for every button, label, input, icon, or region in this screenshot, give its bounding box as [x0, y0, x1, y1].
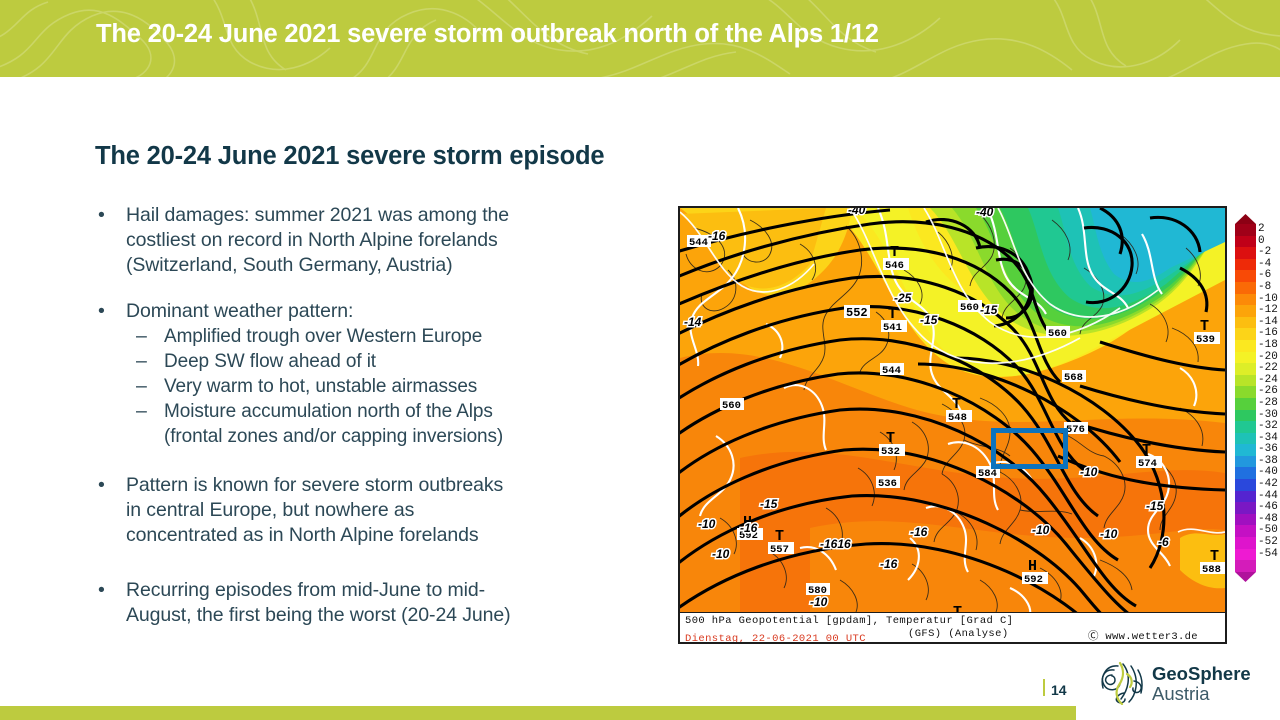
colorbar-cell [1235, 259, 1256, 271]
svg-text:-15: -15 [1146, 499, 1164, 513]
colorbar-cell [1235, 270, 1256, 282]
colorbar-cell [1235, 236, 1256, 248]
sub-bullet-item: – Moisture accumulation north of the Alp… [136, 399, 665, 449]
colorbar-cell [1235, 363, 1256, 375]
colorbar-tick-label: -12 [1258, 305, 1280, 317]
svg-text:539: 539 [1196, 334, 1215, 346]
colorbar-tick-label: -54 [1258, 549, 1280, 561]
bullet-marker: • [95, 299, 126, 324]
colorbar-cell [1235, 410, 1256, 422]
svg-text:560: 560 [722, 400, 741, 412]
bullet-line: Pattern is known for severe storm outbre… [126, 473, 503, 498]
svg-text:-40: -40 [848, 208, 866, 217]
sub-bullet-text: Moisture accumulation north of the Alps … [164, 399, 503, 449]
svg-text:588: 588 [1202, 564, 1221, 576]
colorbar-cell [1235, 328, 1256, 340]
bullet-text: Recurring episodes from mid-June to mid-… [126, 578, 511, 628]
colorbar-cell [1235, 525, 1256, 537]
colorbar-cell [1235, 479, 1256, 491]
colorbar-tick-label: -32 [1258, 421, 1280, 433]
colorbar-tick-label [1258, 560, 1280, 572]
logo-text-austria: Austria [1152, 683, 1210, 705]
map-caption-source: Ⓒ www.wetter3.de [1088, 628, 1198, 642]
bullet-text: Hail damages: summer 2021 was among the … [126, 203, 509, 278]
colorbar-bottom-arrow [1235, 572, 1256, 582]
alps-highlight-box [991, 428, 1068, 469]
bullet-item: • Recurring episodes from mid-June to mi… [95, 578, 665, 628]
svg-text:-1616: -1616 [820, 537, 851, 551]
bullet-line: costliest on record in North Alpine fore… [126, 228, 509, 253]
bullet-block: • Pattern is known for severe storm outb… [95, 473, 665, 548]
logo-text-geosphere: GeoSphere [1152, 663, 1251, 685]
svg-text:584: 584 [978, 468, 997, 480]
svg-text:544: 544 [689, 237, 708, 249]
colorbar-tick-label: -18 [1258, 340, 1280, 352]
bullet-block: • Dominant weather pattern: – Amplified … [95, 299, 665, 449]
colorbar-tick-label: -8 [1258, 282, 1280, 294]
sub-bullet-item: – Deep SW flow ahead of it [136, 349, 665, 374]
svg-text:-16: -16 [708, 229, 726, 243]
sub-bullet-marker: – [136, 399, 164, 424]
colorbar-cell [1235, 433, 1256, 445]
map-caption-date-text: Dienstag, 22-06-2021 00 UTC [685, 633, 866, 642]
svg-text:-6: -6 [1158, 535, 1169, 549]
svg-text:-25: -25 [894, 291, 912, 305]
svg-text:-14: -14 [684, 315, 702, 329]
sub-bullet-item: – Very warm to hot, unstable airmasses [136, 374, 665, 399]
map-caption-variables: 500 hPa Geopotential [gpdam], Temperatur… [685, 615, 1013, 627]
bullet-item: • Pattern is known for severe storm outb… [95, 473, 665, 548]
colorbar-cell [1235, 247, 1256, 259]
sub-bullet-text: Very warm to hot, unstable airmasses [164, 374, 477, 399]
svg-text:-10: -10 [1032, 523, 1050, 537]
svg-text:536: 536 [878, 478, 897, 490]
svg-text:-15: -15 [980, 303, 998, 317]
colorbar-cell [1235, 375, 1256, 387]
svg-text:-10: -10 [1080, 465, 1098, 479]
bullet-list: • Hail damages: summer 2021 was among th… [95, 203, 665, 649]
colorbar-cell [1235, 386, 1256, 398]
colorbar-cell [1235, 282, 1256, 294]
weather-map-canvas: 544 552 560 544 536 580 568 576 584 560 … [680, 208, 1225, 642]
sub-bullet-text: Amplified trough over Western Europe [164, 324, 482, 349]
svg-text:-10: -10 [1100, 527, 1118, 541]
page-number: 14 [1051, 682, 1067, 698]
weather-map-figure: 544 552 560 544 536 580 568 576 584 560 … [678, 206, 1227, 644]
colorbar-tick-label: -28 [1258, 398, 1280, 410]
svg-text:560: 560 [1048, 328, 1067, 340]
bullet-item: • Hail damages: summer 2021 was among th… [95, 203, 665, 278]
colorbar-cell [1235, 467, 1256, 479]
svg-text:-16: -16 [910, 525, 928, 539]
svg-text:568: 568 [1064, 372, 1083, 384]
svg-text:-10: -10 [810, 595, 828, 609]
svg-text:-16: -16 [740, 521, 758, 535]
colorbar-tick-label: -22 [1258, 363, 1280, 375]
colorbar-strip [1235, 224, 1256, 572]
bullet-line: concentrated as in North Alpine foreland… [126, 523, 503, 548]
temperature-colorbar: 20-2-4-6-8-10-12-14-16-18-20-22-24-26-28… [1235, 214, 1280, 614]
svg-text:-10: -10 [712, 547, 730, 561]
sub-bullet-line: (frontal zones and/or capping inversions… [164, 424, 503, 449]
bullet-marker: • [95, 473, 126, 498]
bullet-text: Dominant weather pattern: [126, 299, 353, 324]
geosphere-austria-logo: GeoSphere Austria [1100, 659, 1268, 707]
svg-text:548: 548 [948, 412, 967, 424]
sub-bullet-text: Deep SW flow ahead of it [164, 349, 376, 374]
bullet-line: Recurring episodes from mid-June to mid- [126, 578, 511, 603]
page-title: The 20-24 June 2021 severe storm episode [95, 142, 604, 171]
svg-text:541: 541 [883, 322, 902, 334]
bullet-line: Dominant weather pattern: [126, 299, 353, 324]
svg-text:574: 574 [1138, 458, 1157, 470]
svg-text:544: 544 [882, 365, 901, 377]
svg-text:-10: -10 [698, 517, 716, 531]
weather-map-panel[interactable]: 544 552 560 544 536 580 568 576 584 560 … [678, 206, 1227, 644]
colorbar-cell [1235, 317, 1256, 329]
colorbar-cell [1235, 294, 1256, 306]
colorbar-tick-label: -52 [1258, 537, 1280, 549]
svg-text:-40: -40 [976, 208, 994, 219]
colorbar-cell [1235, 514, 1256, 526]
colorbar-tick-label: 2 [1258, 224, 1280, 236]
sub-bullet-item: – Amplified trough over Western Europe [136, 324, 665, 349]
svg-text:557: 557 [770, 544, 789, 556]
colorbar-cell [1235, 224, 1256, 236]
sub-bullet-marker: – [136, 374, 164, 399]
bullet-block: • Hail damages: summer 2021 was among th… [95, 203, 665, 278]
svg-text:552: 552 [846, 306, 868, 320]
colorbar-cell [1235, 502, 1256, 514]
map-caption: 500 hPa Geopotential [gpdam], Temperatur… [680, 612, 1225, 642]
sub-bullet-list: – Amplified trough over Western Europe –… [136, 324, 665, 449]
colorbar-cell [1235, 549, 1256, 561]
svg-text:-16: -16 [880, 557, 898, 571]
colorbar-cell [1235, 340, 1256, 352]
colorbar-cell [1235, 560, 1256, 572]
page-number-divider [1043, 679, 1045, 696]
colorbar-cell [1235, 491, 1256, 503]
colorbar-cell [1235, 352, 1256, 364]
svg-text:546: 546 [885, 260, 904, 272]
svg-text:532: 532 [881, 446, 900, 458]
colorbar-cell [1235, 421, 1256, 433]
bullet-item: • Dominant weather pattern: [95, 299, 665, 324]
sub-bullet-line: Moisture accumulation north of the Alps [164, 399, 503, 424]
colorbar-tick-label: -42 [1258, 479, 1280, 491]
colorbar-cell [1235, 444, 1256, 456]
bullet-marker: • [95, 203, 126, 228]
colorbar-cell [1235, 537, 1256, 549]
header-title: The 20-24 June 2021 severe storm outbrea… [96, 20, 879, 49]
bullet-text: Pattern is known for severe storm outbre… [126, 473, 503, 548]
map-caption-datetime: Dienstag, 22-06-2021 00 UTC [685, 628, 866, 642]
svg-text:-15: -15 [760, 497, 778, 511]
bullet-marker: • [95, 578, 126, 603]
colorbar-cell [1235, 398, 1256, 410]
colorbar-tick-labels: 20-2-4-6-8-10-12-14-16-18-20-22-24-26-28… [1258, 224, 1280, 572]
bullet-block: • Recurring episodes from mid-June to mi… [95, 578, 665, 628]
bullet-line: Hail damages: summer 2021 was among the [126, 203, 509, 228]
bullet-line: (Switzerland, South Germany, Austria) [126, 253, 509, 278]
svg-text:560: 560 [960, 302, 979, 314]
header-bar: The 20-24 June 2021 severe storm outbrea… [0, 0, 1280, 77]
colorbar-cell [1235, 456, 1256, 468]
colorbar-cell [1235, 305, 1256, 317]
colorbar-top-arrow [1235, 214, 1256, 224]
sub-bullet-marker: – [136, 349, 164, 374]
svg-text:592: 592 [1024, 574, 1043, 586]
geosphere-logo-mark-icon [1100, 661, 1146, 705]
svg-text:576: 576 [1066, 424, 1085, 436]
bullet-line: in central Europe, but nowhere as [126, 498, 503, 523]
bullet-line: August, the first being the worst (20-24… [126, 603, 511, 628]
map-caption-model: (GFS) (Analyse) [908, 628, 1009, 640]
sub-bullet-marker: – [136, 324, 164, 349]
footer-bar [0, 706, 1076, 720]
svg-text:-15: -15 [920, 313, 938, 327]
